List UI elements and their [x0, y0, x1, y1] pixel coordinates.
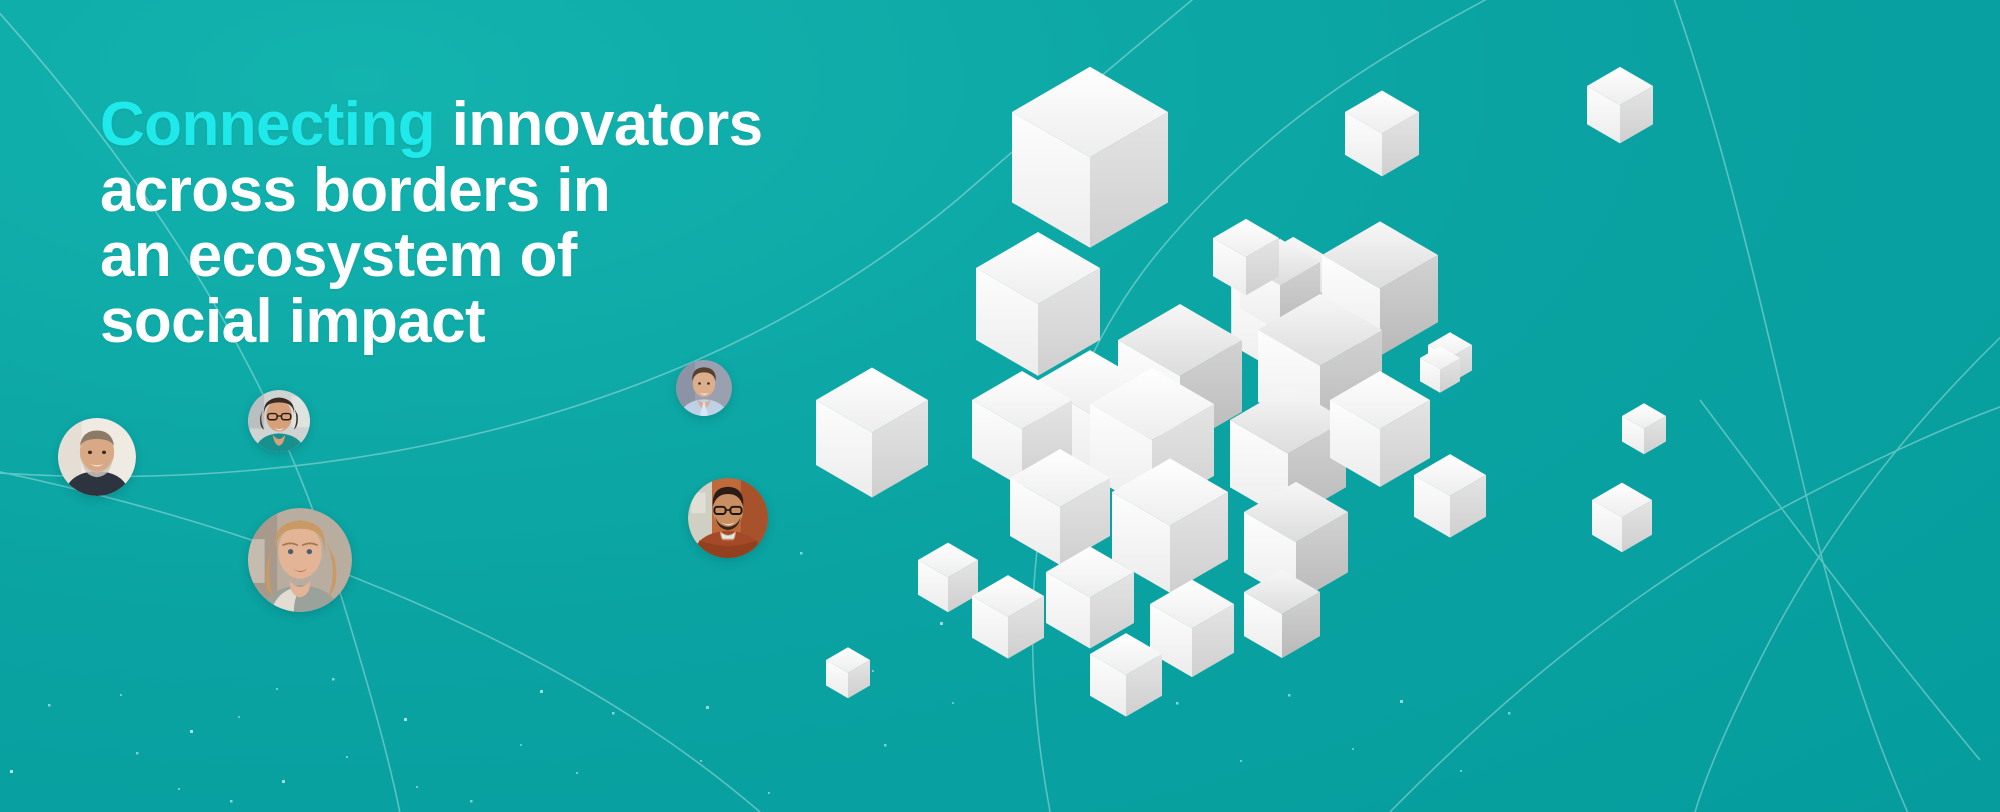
cube	[1414, 454, 1486, 538]
cube	[1592, 483, 1652, 553]
avatar-photo	[248, 508, 352, 612]
cube	[1150, 580, 1234, 677]
cube	[816, 368, 928, 498]
cube	[1012, 67, 1168, 248]
hero-banner: Connecting innovators across borders in …	[0, 0, 2000, 812]
cube	[1622, 403, 1666, 454]
cube	[972, 575, 1044, 659]
headline-line-1-rest: innovators	[435, 90, 763, 159]
avatar-woman-with-glasses[interactable]	[248, 390, 310, 452]
isometric-cube-cluster	[760, 0, 2000, 812]
avatar-photo	[248, 390, 310, 452]
avatar-woman-long-hair[interactable]	[248, 508, 352, 612]
avatar-smiling-older-man[interactable]	[58, 418, 136, 496]
avatar-photo	[58, 418, 136, 496]
cube	[918, 543, 978, 613]
cube	[976, 232, 1100, 376]
headline-accent-word: Connecting	[100, 90, 435, 159]
cube-cluster-graphic	[760, 0, 2000, 812]
avatar-bearded-man-glasses[interactable]	[688, 478, 768, 558]
cube	[1345, 91, 1419, 177]
avatar-photo	[688, 478, 768, 558]
cube	[1587, 67, 1653, 144]
avatar-man-light-blue-shirt[interactable]	[676, 360, 732, 416]
cube	[826, 647, 870, 698]
avatar-photo	[676, 360, 732, 416]
